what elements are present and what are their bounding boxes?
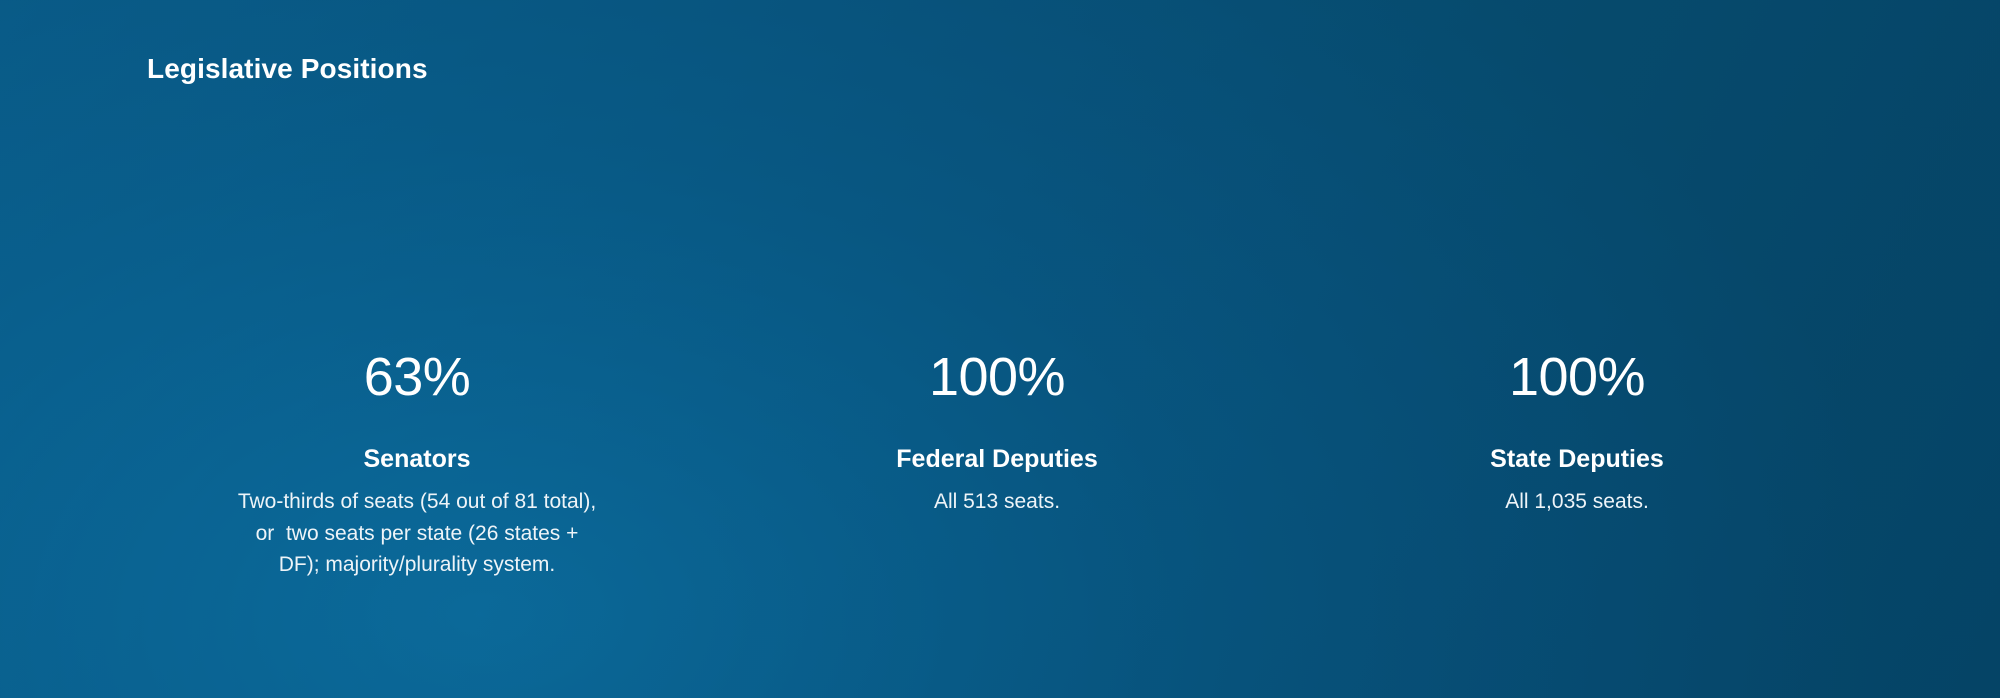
gauge-senators-description: Two-thirds of seats (54 out of 81 total)…	[238, 486, 596, 581]
gauge-state-deputies-value: 100%	[1307, 350, 1847, 404]
gauge-row: 63% Senators Two-thirds of seats (54 out…	[0, 140, 2000, 660]
gauge-state-deputies-description: All 1,035 seats.	[1505, 486, 1649, 518]
gauge-state-deputies: 100%	[1307, 140, 1847, 412]
gauge-senators-description-line-3: DF); majority/plurality system.	[238, 549, 596, 581]
gauge-card-senators: 63% Senators Two-thirds of seats (54 out…	[117, 140, 717, 660]
gauge-card-state-deputies: 100% State Deputies All 1,035 seats.	[1277, 140, 1877, 660]
gauge-senators: 63%	[147, 140, 687, 412]
gauge-senators-description-line-1: Two-thirds of seats (54 out of 81 total)…	[238, 486, 596, 518]
gauge-senators-value: 63%	[147, 350, 687, 404]
page-title: Legislative Positions	[147, 53, 428, 85]
gauge-federal-deputies-value: 100%	[727, 350, 1267, 404]
gauge-federal-deputies: 100%	[727, 140, 1267, 412]
gauge-state-deputies-label: State Deputies	[1490, 444, 1664, 474]
gauge-card-federal-deputies: 100% Federal Deputies All 513 seats.	[697, 140, 1297, 660]
legislative-positions-panel: Legislative Positions 63% Senators Two-t…	[0, 0, 2000, 698]
gauge-federal-deputies-description: All 513 seats.	[934, 486, 1060, 518]
gauge-federal-deputies-label: Federal Deputies	[896, 444, 1097, 474]
gauge-senators-description-line-2: or two seats per state (26 states +	[238, 518, 596, 550]
gauge-senators-label: Senators	[364, 444, 471, 474]
gauge-state-deputies-description-line-1: All 1,035 seats.	[1505, 486, 1649, 518]
gauge-federal-deputies-description-line-1: All 513 seats.	[934, 486, 1060, 518]
